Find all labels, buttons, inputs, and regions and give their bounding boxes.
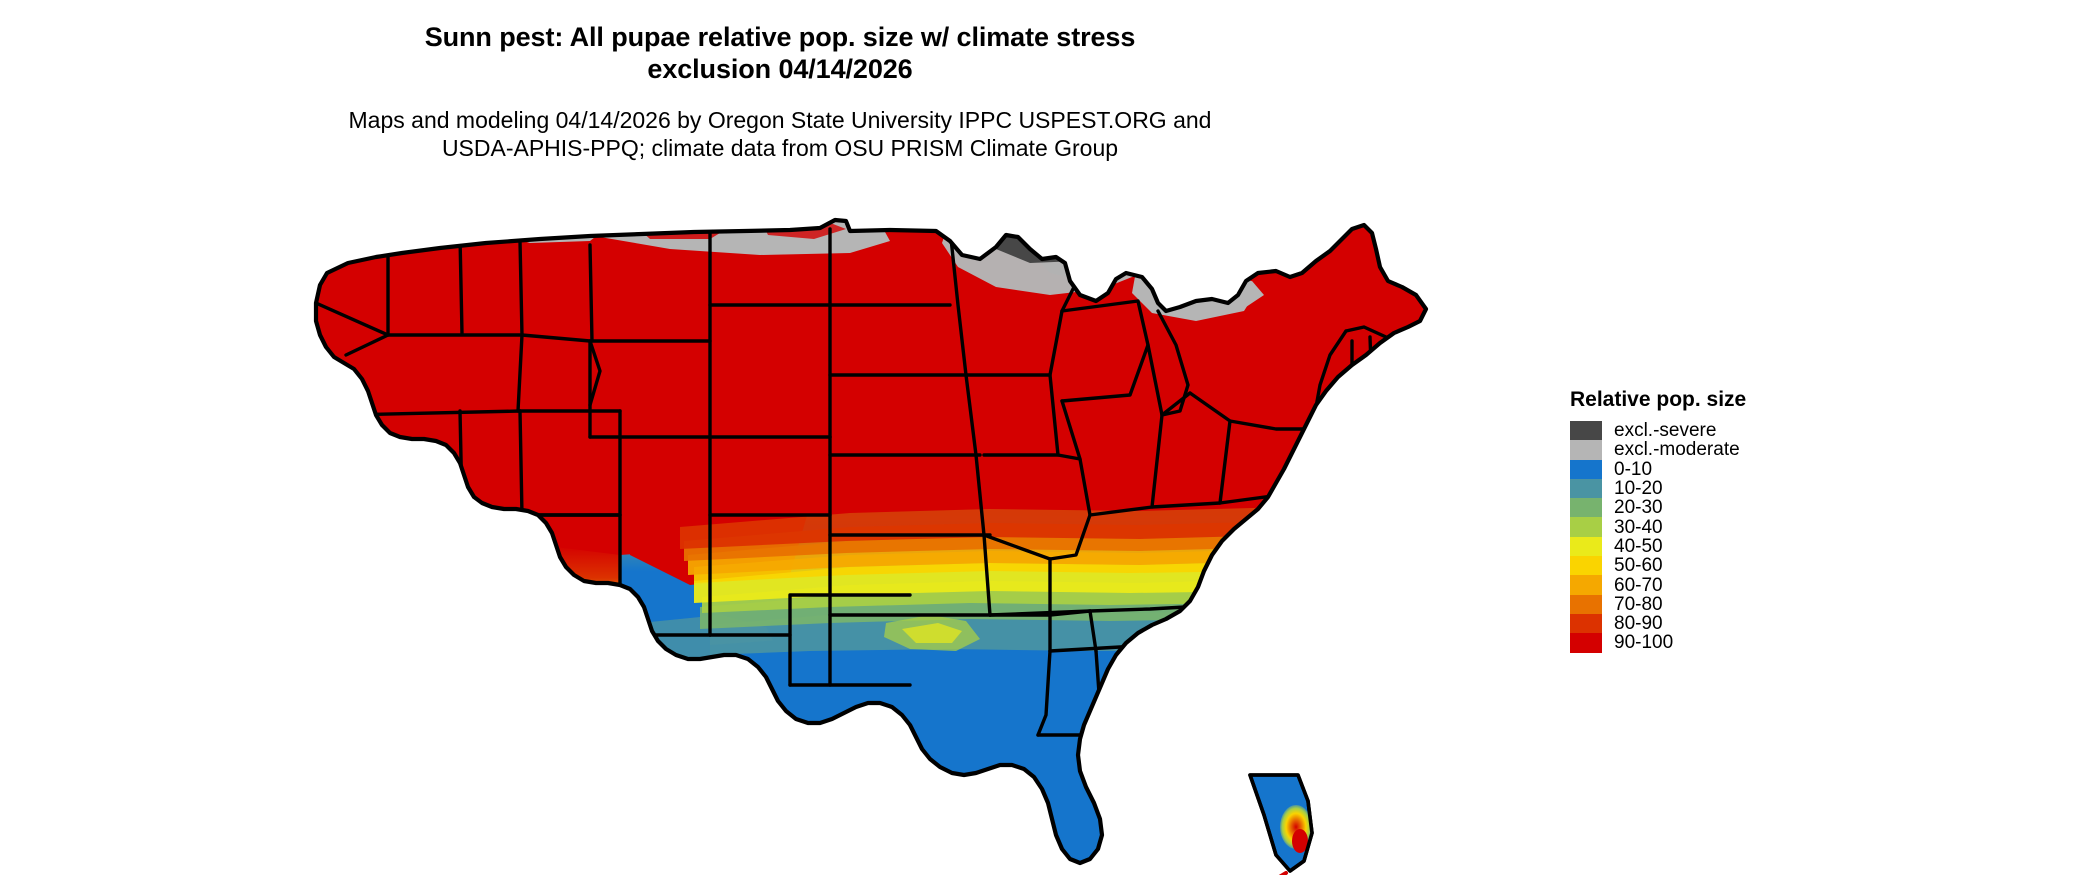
legend-title: Relative pop. size bbox=[1570, 388, 1970, 412]
legend-label: 50-60 bbox=[1614, 556, 1663, 575]
legend-item: 20-30 bbox=[1570, 498, 1970, 517]
legend-label: excl.-moderate bbox=[1614, 440, 1740, 459]
map-page: Sunn pest: All pupae relative pop. size … bbox=[0, 0, 2100, 892]
legend-swatch bbox=[1570, 460, 1602, 479]
legend-swatch bbox=[1570, 614, 1602, 633]
map-legend: Relative pop. size excl.-severeexcl.-mod… bbox=[1570, 388, 1970, 653]
map-header: Sunn pest: All pupae relative pop. size … bbox=[0, 0, 1560, 162]
florida-detail bbox=[1242, 775, 1312, 875]
legend-swatch bbox=[1570, 479, 1602, 498]
legend-item: 10-20 bbox=[1570, 479, 1970, 498]
legend-item: excl.-severe bbox=[1570, 421, 1970, 440]
legend-swatch bbox=[1570, 517, 1602, 536]
legend-swatch bbox=[1570, 440, 1602, 459]
legend-label: 30-40 bbox=[1614, 518, 1663, 537]
legend-item: 70-80 bbox=[1570, 595, 1970, 614]
legend-item: 30-40 bbox=[1570, 517, 1970, 536]
legend-label: 90-100 bbox=[1614, 633, 1673, 652]
legend-item: 0-10 bbox=[1570, 460, 1970, 479]
legend-items: excl.-severeexcl.-moderate0-1010-2020-30… bbox=[1570, 421, 1970, 653]
legend-item: 80-90 bbox=[1570, 614, 1970, 633]
map-canvas bbox=[290, 215, 1550, 875]
legend-item: 60-70 bbox=[1570, 575, 1970, 594]
legend-swatch bbox=[1570, 537, 1602, 556]
legend-label: 60-70 bbox=[1614, 576, 1663, 595]
legend-swatch bbox=[1570, 421, 1602, 440]
us-choropleth-map bbox=[290, 215, 1550, 875]
legend-label: 0-10 bbox=[1614, 460, 1652, 479]
page-title: Sunn pest: All pupae relative pop. size … bbox=[0, 22, 1560, 86]
legend-swatch bbox=[1570, 575, 1602, 594]
legend-label: 40-50 bbox=[1614, 537, 1663, 556]
legend-item: 40-50 bbox=[1570, 537, 1970, 556]
legend-label: 80-90 bbox=[1614, 614, 1663, 633]
legend-item: 90-100 bbox=[1570, 633, 1970, 652]
legend-swatch bbox=[1570, 633, 1602, 652]
legend-label: 20-30 bbox=[1614, 498, 1663, 517]
legend-swatch bbox=[1570, 556, 1602, 575]
map-subtitle: Maps and modeling 04/14/2026 by Oregon S… bbox=[0, 106, 1560, 162]
legend-label: 10-20 bbox=[1614, 479, 1663, 498]
legend-swatch bbox=[1570, 595, 1602, 614]
legend-item: excl.-moderate bbox=[1570, 440, 1970, 459]
legend-swatch bbox=[1570, 498, 1602, 517]
legend-label: 70-80 bbox=[1614, 595, 1663, 614]
legend-label: excl.-severe bbox=[1614, 421, 1716, 440]
legend-item: 50-60 bbox=[1570, 556, 1970, 575]
choropleth-raster bbox=[290, 215, 1550, 875]
